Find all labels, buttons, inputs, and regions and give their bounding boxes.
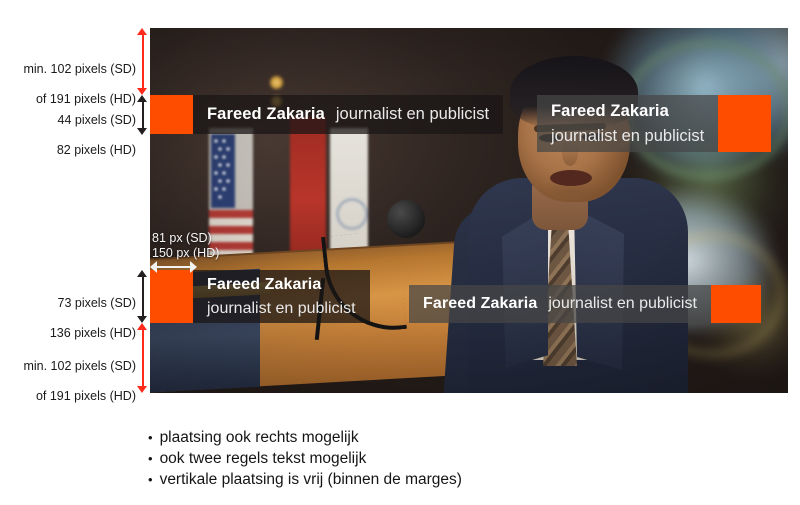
double-bar-line-2: 136 pixels (HD) — [0, 326, 136, 341]
left-inset-line-2: 150 px (HD) — [152, 246, 219, 261]
bottom-margin-arrow — [136, 323, 149, 393]
caption-role: journalist en publicist — [336, 95, 489, 134]
bottom-margin-line-2: of 191 pixels (HD) — [0, 389, 136, 404]
reference-photo — [150, 28, 788, 393]
caption-plate: Fareed Zakaria journalist en publicist — [193, 95, 503, 134]
single-bar-line-2: 82 pixels (HD) — [0, 143, 136, 158]
caption-orange-swatch — [718, 95, 771, 152]
list-item: • ook twee regels tekst mogelijk — [148, 448, 462, 469]
arrow-shaft — [142, 276, 144, 317]
arrow-shaft — [142, 329, 144, 387]
arrow-head-right-icon — [190, 261, 197, 273]
caption-role: journalist en publicist — [548, 285, 697, 323]
arrow-head-down-icon — [137, 88, 147, 95]
caption-name: Fareed Zakaria — [207, 95, 325, 134]
caption-bar-bottom-left: Fareed Zakaria journalist en publicist — [150, 270, 370, 323]
left-inset-line-1: 81 px (SD) — [152, 231, 219, 246]
caption-bar-top-right: Fareed Zakaria journalist en publicist — [537, 95, 771, 152]
top-margin-line-1: min. 102 pixels (SD) — [0, 62, 136, 77]
caption-bar-bottom-right: Fareed Zakaria journalist en publicist — [409, 285, 761, 323]
caption-role: journalist en publicist — [551, 124, 704, 149]
caption-role: journalist en publicist — [207, 297, 356, 321]
double-bar-line-1: 73 pixels (SD) — [0, 296, 136, 311]
top-margin-arrow — [136, 28, 149, 95]
arrow-shaft — [156, 266, 191, 268]
caption-plate: Fareed Zakaria journalist en publicist — [193, 270, 370, 323]
caption-name: Fareed Zakaria — [423, 285, 537, 323]
bottom-margin-label: min. 102 pixels (SD) of 191 pixels (HD) — [0, 344, 136, 419]
bullet-icon: • — [148, 469, 153, 490]
photo-vignette — [150, 28, 788, 393]
bottom-margin-line-1: min. 102 pixels (SD) — [0, 359, 136, 374]
single-bar-line-1: 44 pixels (SD) — [0, 113, 136, 128]
left-inset-measurement-label: 81 px (SD) 150 px (HD) — [152, 231, 219, 261]
single-bar-height-arrow — [136, 95, 149, 135]
bullet-icon: • — [148, 427, 153, 448]
caption-name: Fareed Zakaria — [207, 273, 321, 297]
arrow-head-down-icon — [137, 386, 147, 393]
single-bar-height-label: 44 pixels (SD) 82 pixels (HD) — [0, 98, 136, 173]
bullet-icon: • — [148, 448, 153, 469]
caption-plate: Fareed Zakaria journalist en publicist — [537, 95, 718, 152]
caption-name: Fareed Zakaria — [551, 99, 669, 124]
list-item: • vertikale plaatsing is vrij (binnen de… — [148, 469, 462, 490]
arrow-head-down-icon — [137, 316, 147, 323]
caption-bar-top-left: Fareed Zakaria journalist en publicist — [150, 95, 503, 134]
double-bar-height-arrow — [136, 270, 149, 323]
list-item-label: plaatsing ook rechts mogelijk — [160, 427, 359, 448]
arrow-head-down-icon — [137, 128, 147, 135]
caption-plate: Fareed Zakaria journalist en publicist — [409, 285, 711, 323]
list-item-label: vertikale plaatsing is vrij (binnen de m… — [160, 469, 462, 490]
arrow-shaft — [142, 34, 144, 89]
notes-list: • plaatsing ook rechts mogelijk • ook tw… — [148, 427, 462, 490]
list-item-label: ook twee regels tekst mogelijk — [160, 448, 367, 469]
left-inset-arrow — [150, 261, 197, 273]
caption-orange-swatch — [711, 285, 761, 323]
caption-orange-swatch — [150, 270, 193, 323]
caption-orange-swatch — [150, 95, 193, 134]
arrow-shaft — [142, 101, 144, 129]
list-item: • plaatsing ook rechts mogelijk — [148, 427, 462, 448]
